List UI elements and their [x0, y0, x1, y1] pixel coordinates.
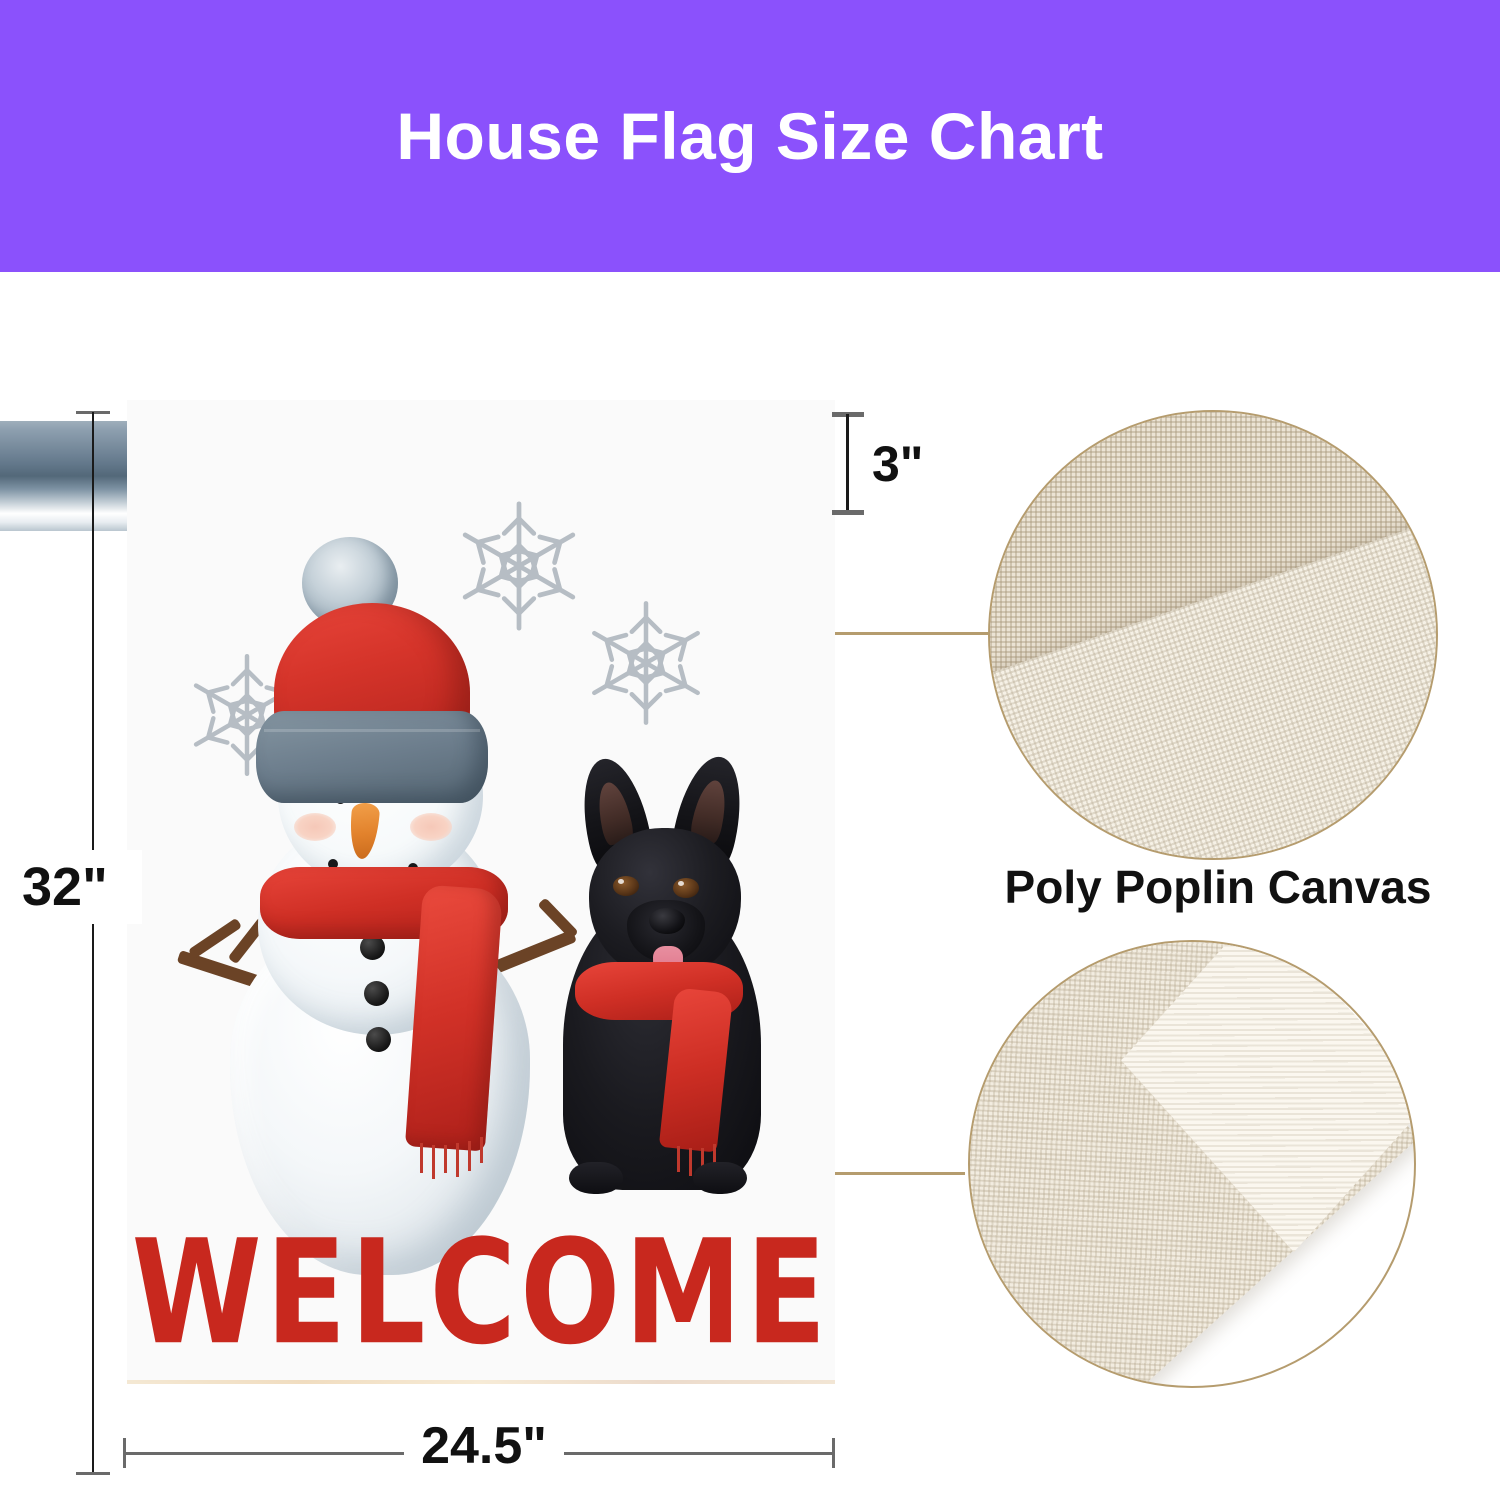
swatch-connector-line [835, 632, 995, 635]
material-label: Poly Poplin Canvas [968, 860, 1468, 914]
dog-eye-left [613, 876, 639, 896]
dimension-label-width: 24.5" [404, 1416, 564, 1476]
dog-eye-right [673, 878, 699, 898]
scarf-fringe [420, 1143, 423, 1173]
coal-button [366, 1027, 391, 1052]
dog-illustration [527, 750, 797, 1220]
dimension-tick-right [832, 1438, 835, 1468]
snowman-illustration [182, 515, 572, 1325]
dimension-line-sleeve [846, 414, 849, 514]
coal-button [364, 981, 389, 1006]
scarf-fringe [689, 1148, 692, 1176]
dog-nose [649, 908, 685, 934]
dimension-line-height [92, 412, 94, 1474]
dimension-label-sleeve: 3" [872, 435, 924, 493]
house-flag-preview: WELCOME [127, 400, 835, 1382]
sleeve-tick-bottom [832, 510, 864, 515]
dog-paw [693, 1162, 747, 1194]
scarf-fringe [480, 1137, 483, 1163]
dog-paw [569, 1162, 623, 1194]
flag-bottom-edge [127, 1380, 835, 1384]
dimension-tick-bottom [76, 1472, 110, 1475]
page-header: House Flag Size Chart [0, 0, 1500, 272]
snowman-cheek-left [294, 813, 336, 841]
swatch-connector-line [835, 1172, 965, 1175]
snowflake-icon [575, 592, 717, 734]
fabric-fold-closeup [968, 940, 1416, 1388]
dimension-label-height: 32" [22, 850, 142, 924]
welcome-text: WELCOME [127, 1208, 835, 1376]
flag-pole [0, 421, 128, 531]
scarf-fringe [677, 1146, 680, 1172]
page-title: House Flag Size Chart [396, 103, 1103, 169]
scarf-fringe [456, 1143, 459, 1177]
beanie-brim [256, 711, 488, 803]
fabric-weave-closeup [988, 410, 1438, 860]
scarf-fringe [432, 1145, 435, 1179]
scarf-fringe [468, 1141, 471, 1171]
scarf-fringe [444, 1145, 447, 1173]
snowman-cheek-right [410, 813, 452, 841]
